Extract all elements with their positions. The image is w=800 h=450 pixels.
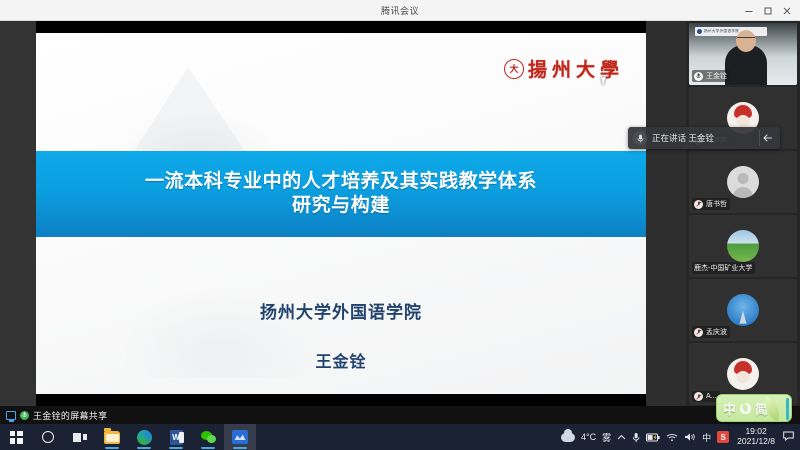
participant-tile[interactable]: 鹿杰-中国矿业大学 — [689, 215, 797, 277]
banner-text: 扬州大学外国语学院 — [704, 29, 739, 34]
cloud-icon[interactable] — [561, 433, 575, 442]
close-icon[interactable] — [777, 1, 796, 20]
edge-icon — [137, 430, 152, 445]
microphone-icon — [633, 131, 647, 145]
participant-avatar — [727, 166, 759, 198]
participant-name: 王金铨 — [706, 71, 727, 81]
action-center-icon[interactable] — [783, 431, 794, 444]
wechat-button[interactable] — [192, 424, 224, 450]
participant-label: 鹿杰-中国矿业大学 — [692, 262, 755, 274]
presentation-slide: 大 揚州大學 一流本科专业中的人才培养及其实践教学体系 研究与构建 扬州大学外国… — [36, 33, 646, 394]
word-icon: W — [170, 430, 183, 445]
slide-title-band: 一流本科专业中的人才培养及其实践教学体系 研究与构建 — [36, 151, 646, 237]
slide-title-line-2: 研究与构建 — [292, 194, 390, 218]
system-tray: 4°C 雾 — [561, 424, 800, 450]
screen-share-text: 王金铨的屏幕共享 — [33, 409, 107, 422]
microsoft-word-button[interactable]: W — [160, 424, 192, 450]
slide-affiliation: 扬州大学外国语学院 — [36, 298, 646, 323]
active-speaker-bar[interactable]: 正在讲话 王金铨 — [628, 127, 780, 149]
sogou-input-icon[interactable]: S — [717, 431, 729, 443]
participant-name: A... — [706, 393, 717, 400]
ime-side-indicator — [786, 398, 789, 420]
maximize-icon[interactable] — [758, 1, 777, 20]
microphone-muted-icon — [694, 328, 703, 337]
task-view-icon — [73, 432, 87, 443]
participant-label: 孟庆波 — [692, 326, 730, 338]
clock-date: 2021/12/8 — [737, 437, 775, 447]
video-banner: 扬州大学外国语学院 — [695, 27, 767, 36]
participant-avatar — [727, 230, 759, 262]
windows-logo-icon — [10, 431, 23, 444]
speaker-icon[interactable] — [684, 432, 696, 442]
microphone-icon — [20, 411, 29, 420]
screen-share-status-bar: 王金铨的屏幕共享 — [0, 406, 800, 424]
slide-watermark-top — [91, 53, 306, 157]
window-title: 腾讯会议 — [381, 4, 419, 17]
participants-panel[interactable]: 扬州大学外国语学院 王金铨 刘婷婷 — [686, 21, 800, 406]
search-button[interactable] — [32, 424, 64, 450]
participant-name: 鹿杰-中国矿业大学 — [694, 263, 752, 273]
participant-avatar — [727, 294, 759, 326]
taskbar-apps: W — [0, 424, 256, 450]
stage-right-gap — [646, 21, 686, 406]
microphone-icon — [694, 72, 703, 81]
tencent-meeting-button[interactable] — [224, 424, 256, 450]
microphone-muted-icon — [694, 200, 703, 209]
participant-tile[interactable]: 孟庆波 — [689, 279, 797, 341]
active-speaker-text: 正在讲话 王金铨 — [652, 132, 754, 144]
taskbar-clock[interactable]: 19:02 2021/12/8 — [737, 427, 775, 447]
battery-warning-icon[interactable] — [646, 433, 660, 442]
ime-indicator[interactable]: 中 — [702, 431, 711, 444]
screen-share-icon — [6, 411, 16, 420]
moon-icon — [740, 403, 751, 414]
participant-tile[interactable]: 唐书哲 — [689, 151, 797, 213]
ime-mode-group: 中 简 — [717, 399, 768, 418]
microphone-icon[interactable] — [632, 432, 640, 443]
microsoft-edge-button[interactable] — [128, 424, 160, 450]
minimize-icon[interactable] — [739, 1, 758, 20]
ime-status-popup[interactable]: 中 简 — [716, 394, 792, 422]
shared-screen-area[interactable]: 大 揚州大學 一流本科专业中的人才培养及其实践教学体系 研究与构建 扬州大学外国… — [36, 21, 646, 406]
windows-taskbar: W 4°C 雾 — [0, 424, 800, 450]
participant-avatar — [727, 358, 759, 390]
file-explorer-button[interactable] — [96, 424, 128, 450]
tencent-meeting-icon — [232, 430, 248, 444]
participant-tile[interactable]: 扬州大学外国语学院 王金铨 — [689, 23, 797, 85]
participant-label: 唐书哲 — [692, 198, 730, 210]
weather-condition[interactable]: 雾 — [602, 431, 611, 444]
stage-left-rail — [0, 21, 36, 406]
participant-name: 孟庆波 — [706, 327, 727, 337]
collapse-arrow-icon[interactable] — [759, 130, 775, 146]
active-speaker-name: 王金铨 — [688, 133, 714, 143]
start-button[interactable] — [0, 424, 32, 450]
meeting-stage: 大 揚州大學 一流本科专业中的人才培养及其实践教学体系 研究与构建 扬州大学外国… — [0, 21, 800, 406]
ime-mode-label: 中 — [723, 399, 736, 418]
slide-title-line-1: 一流本科专业中的人才培养及其实践教学体系 — [145, 170, 537, 194]
window-titlebar: 腾讯会议 — [0, 0, 800, 21]
window-controls — [739, 0, 796, 21]
slide-presenter-name: 王金铨 — [36, 348, 646, 372]
chevron-up-icon[interactable] — [617, 434, 626, 441]
folder-icon — [104, 431, 120, 444]
task-view-button[interactable] — [64, 424, 96, 450]
participant-name: 唐书哲 — [706, 199, 727, 209]
weather-temperature[interactable]: 4°C — [581, 432, 596, 442]
cortana-circle-icon — [42, 431, 54, 443]
wifi-icon[interactable] — [666, 433, 678, 442]
participant-label: 王金铨 — [692, 70, 730, 82]
university-logo-text: 揚州大學 — [528, 55, 624, 82]
active-speaker-label: 正在讲话 — [652, 133, 686, 143]
university-seal-icon: 大 — [504, 59, 524, 79]
banner-logo-icon — [697, 29, 702, 34]
wechat-icon — [201, 431, 216, 444]
tencent-meeting-window: 腾讯会议 大 揚州大學 — [0, 0, 800, 450]
microphone-muted-icon — [694, 392, 703, 401]
participant-figure — [725, 45, 767, 85]
